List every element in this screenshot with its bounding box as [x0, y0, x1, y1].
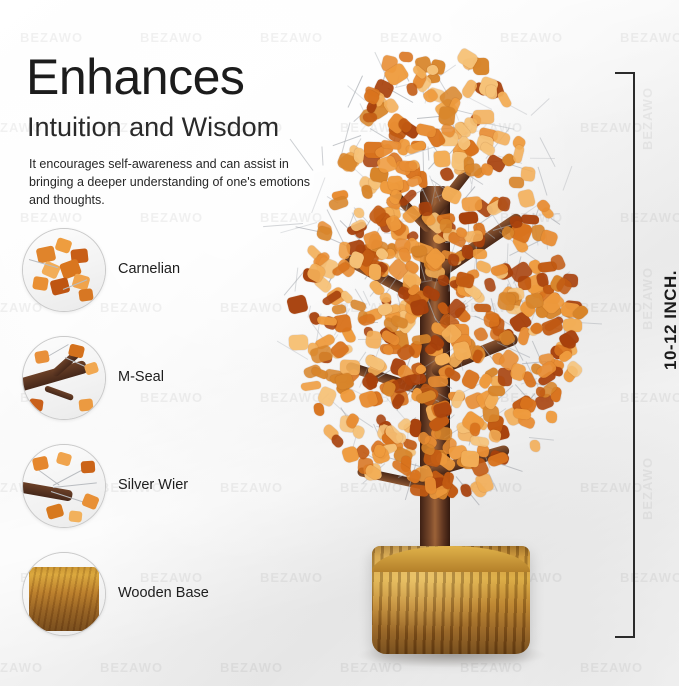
carnelian-gem-chip — [474, 304, 491, 313]
carnelian-gem-chip — [539, 229, 559, 248]
carnelian-gem-chip — [399, 51, 414, 61]
watermark-text-rotated: BEZAWO — [640, 267, 655, 330]
wooden-base — [372, 546, 530, 654]
silver-wire-icon — [22, 444, 106, 528]
carnelian-gem-chip — [473, 110, 494, 124]
product-image — [280, 36, 610, 666]
carnelian-gem-chip — [439, 219, 452, 233]
silver-wire-strand — [469, 97, 492, 110]
watermark-text: BEZAWO — [0, 660, 43, 675]
carnelian-gem-chip — [545, 411, 557, 424]
carnelian-gem-chip — [286, 294, 309, 316]
list-item-label: Wooden Base — [118, 585, 209, 601]
silver-wire-strand — [563, 165, 573, 190]
silver-wire-strand — [537, 167, 547, 196]
watermark-text: BEZAWO — [140, 210, 203, 225]
tree-canopy — [286, 50, 604, 530]
watermark-text: BEZAWO — [140, 30, 203, 45]
size-label: 10-12 INCH. — [661, 270, 679, 370]
carnelian-gem-chip — [439, 107, 456, 126]
carnelian-gem-chip — [486, 84, 498, 99]
list-item: Carnelian — [22, 228, 282, 336]
feature-list: Carnelian M-Seal — [22, 228, 282, 660]
list-item: Wooden Base — [22, 552, 282, 660]
carnelian-gem-chip — [460, 368, 481, 390]
carnelian-gem-chip — [530, 439, 541, 451]
carnelian-gem-chip — [472, 248, 487, 258]
product-infographic: BEZAWOBEZAWOBEZAWOBEZAWOBEZAWOBEZAWOBEZA… — [0, 0, 679, 686]
carnelian-gem-chip — [512, 144, 525, 164]
carnelian-gem-chip — [406, 83, 418, 97]
carnelian-gem-chip — [424, 477, 436, 495]
carnelian-gem-chip — [437, 274, 450, 287]
carnelian-gem-chip — [353, 148, 365, 164]
carnelian-gem-chip — [491, 130, 511, 146]
page-title: Enhances — [26, 52, 244, 102]
carnelian-gem-chip — [418, 201, 432, 216]
carnelian-gem-chip — [353, 207, 364, 218]
silver-wire-strand — [284, 271, 305, 296]
silver-wire-strand — [539, 137, 555, 167]
page-subtitle: Intuition and Wisdom — [27, 112, 279, 143]
silver-wire-strand — [322, 147, 324, 166]
wooden-base-icon — [22, 552, 106, 636]
carnelian-gem-chip — [513, 408, 532, 420]
carnelian-gem-chip — [462, 245, 473, 259]
carnelian-gem-chip — [332, 304, 347, 315]
carnelian-gem-chip — [498, 368, 512, 386]
carnelian-gem-chip — [473, 326, 490, 343]
carnelian-gem-chip — [358, 313, 376, 327]
carnelian-gem-chip — [440, 185, 463, 205]
carnelian-gem-chip — [328, 195, 349, 211]
carnelian-gem-chip — [540, 317, 564, 338]
watermark-text: BEZAWO — [100, 660, 163, 675]
silver-wire-strand — [289, 138, 313, 170]
silver-wire-strand — [531, 99, 550, 116]
carnelian-gem-chip — [458, 210, 479, 224]
silver-wire-strand — [312, 177, 326, 213]
watermark-text: BEZAWO — [220, 660, 283, 675]
carnelian-gem-chip — [520, 166, 535, 182]
carnelian-gem-chip — [314, 403, 325, 417]
carnelian-gem-chip — [399, 160, 418, 171]
carnelian-gem-chip — [365, 330, 382, 349]
carnelian-gem-chip — [488, 386, 505, 396]
list-item: M-Seal — [22, 336, 282, 444]
carnelian-gem-chip — [483, 277, 496, 293]
carnelian-gem-chip — [497, 196, 511, 212]
watermark-text-rotated: BEZAWO — [640, 87, 655, 150]
carnelian-gem-chip — [427, 375, 447, 387]
carnelian-gem-chip — [415, 123, 437, 138]
list-item-label: Carnelian — [118, 261, 180, 277]
watermark-text: BEZAWO — [20, 30, 83, 45]
carnelian-gem-chip — [368, 264, 381, 280]
carnelian-gem-chip — [301, 381, 322, 392]
carnelian-gem-chip — [497, 291, 517, 311]
carnelian-gem-chip — [461, 450, 481, 468]
carnelian-gem-chip — [461, 196, 482, 212]
list-item: Silver Wier — [22, 444, 282, 552]
size-bracket — [615, 72, 635, 638]
silver-wire-strand — [551, 217, 561, 224]
carnelian-gem-chip — [310, 366, 328, 380]
watermark-text-rotated: BEZAWO — [640, 457, 655, 520]
list-item-label: Silver Wier — [118, 477, 188, 493]
carnelian-chips-icon — [22, 228, 106, 312]
carnelian-gem-chip — [289, 335, 309, 350]
carnelian-gem-chip — [439, 166, 455, 183]
list-item-label: M-Seal — [118, 369, 164, 385]
watermark-text: BEZAWO — [20, 210, 83, 225]
watermark-text: BEZAWO — [620, 30, 679, 45]
carnelian-gem-chip — [517, 188, 536, 208]
carnelian-gem-chip — [363, 113, 378, 123]
carnelian-gem-chip — [469, 435, 490, 447]
carnelian-gem-chip — [433, 150, 450, 167]
m-seal-branch-icon — [22, 336, 106, 420]
